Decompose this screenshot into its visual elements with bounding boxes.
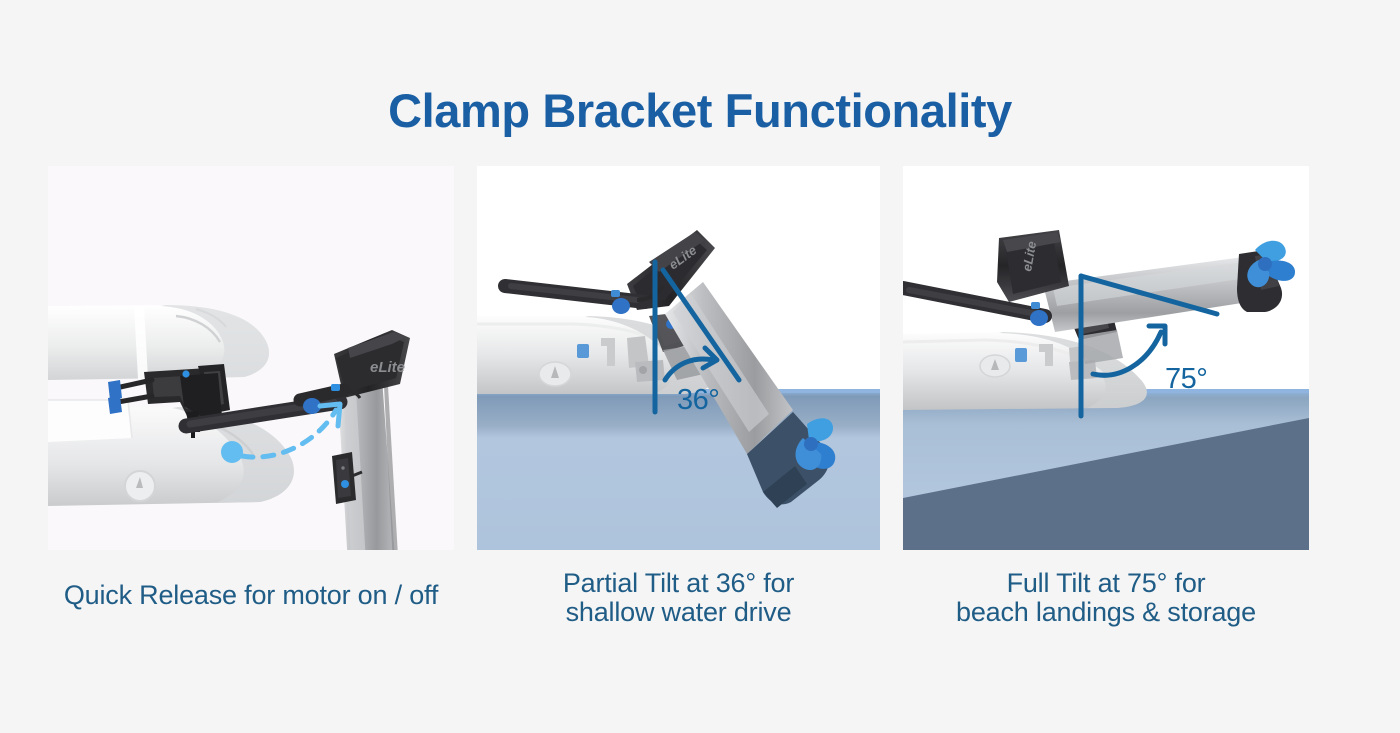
caption-full-tilt: Full Tilt at 75° for beach landings & st… (903, 569, 1309, 627)
panel-quick-release[interactable]: eLite (48, 166, 454, 550)
full-tilt-illustration: eLite (903, 166, 1309, 550)
panel-row: eLite (0, 166, 1400, 556)
partial-tilt-illustration: eLite (477, 166, 880, 550)
caption-line-1: Partial Tilt at 36° for (477, 569, 880, 598)
angle-label-75: 75° (1165, 363, 1207, 396)
caption-quick-release: Quick Release for motor on / off (48, 581, 454, 610)
caption-line-2: shallow water drive (477, 598, 880, 627)
infographic-page: Clamp Bracket Functionality (0, 0, 1400, 733)
caption-line-2: beach landings & storage (903, 598, 1309, 627)
caption-line-1: Quick Release for motor on / off (48, 581, 454, 610)
quick-release-illustration: eLite (48, 166, 454, 550)
caption-line-1: Full Tilt at 75° for (903, 569, 1309, 598)
boat-hull-upper (48, 305, 269, 380)
panel-partial-tilt[interactable]: eLite (477, 166, 880, 550)
caption-partial-tilt: Partial Tilt at 36° for shallow water dr… (477, 569, 880, 627)
brand-label: eLite (370, 359, 405, 376)
panel-full-tilt[interactable]: eLite (903, 166, 1309, 550)
angle-label-36: 36° (677, 384, 719, 417)
page-title: Clamp Bracket Functionality (0, 84, 1400, 138)
